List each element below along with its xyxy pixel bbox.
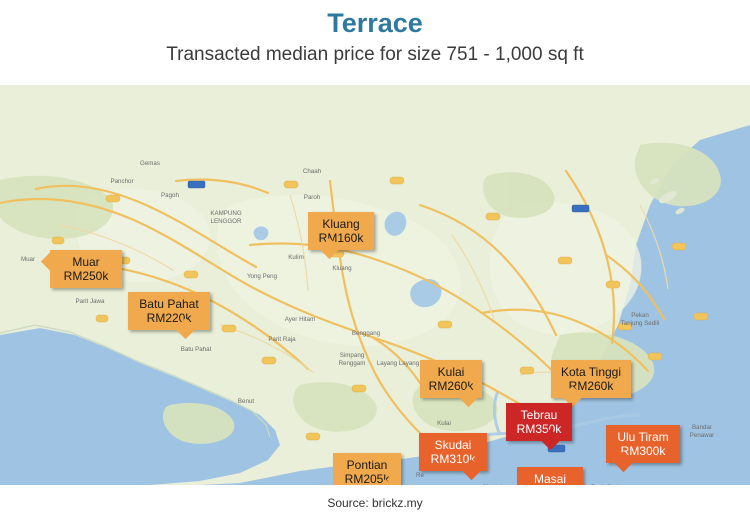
svg-text:Pagoh: Pagoh [161, 192, 179, 199]
svg-text:Paroh: Paroh [304, 194, 321, 201]
marker-name: Muar [57, 255, 115, 269]
marker-name: Masai [524, 472, 576, 485]
marker-name: Tebrau [513, 408, 565, 422]
map-marker-kluang[interactable]: Kluang RM160k [308, 212, 374, 250]
svg-text:Gemas: Gemas [140, 160, 160, 167]
svg-text:Parit Jawa: Parit Jawa [76, 298, 105, 305]
marker-price: RM250k [57, 269, 115, 283]
page-subtitle: Transacted median price for size 751 - 1… [0, 40, 750, 70]
marker-price: RM350k [513, 422, 565, 436]
svg-text:Kulim: Kulim [288, 254, 303, 261]
marker-name: Kota Tinggi [558, 365, 624, 379]
map-marker-tebrau[interactable]: Tebrau RM350k [506, 403, 572, 441]
svg-text:Panchor: Panchor [110, 178, 133, 185]
map-marker-pontian[interactable]: Pontian RM205k [333, 453, 401, 485]
map-marker-batu-pahat[interactable]: Batu Pahat RM220k [128, 292, 210, 330]
svg-text:LENGGOR: LENGGOR [211, 218, 242, 225]
map-canvas[interactable]: Muar Panchor Gemas Pagoh Parit Jawa Batu… [0, 85, 750, 485]
page-title: Terrace [0, 6, 750, 40]
source-note: Source: brickz.my [0, 485, 750, 510]
svg-text:Benut: Benut [238, 398, 254, 405]
marker-name: Ulu Tiram [613, 430, 673, 444]
svg-text:Batu Pahat: Batu Pahat [181, 346, 212, 353]
chart-footer: Source: brickz.my [0, 485, 750, 527]
svg-text:Pekan: Pekan [631, 312, 649, 319]
svg-text:Chaah: Chaah [303, 168, 322, 175]
marker-name: Kulai [427, 365, 475, 379]
svg-text:Kluang: Kluang [332, 265, 352, 272]
map-marker-kota-tinggi[interactable]: Kota Tinggi RM260k [551, 360, 631, 398]
svg-text:Kulai: Kulai [437, 420, 451, 427]
map-marker-ulu-tiram[interactable]: Ulu Tiram RM300k [606, 425, 680, 463]
map-marker-muar[interactable]: Muar RM250k [50, 250, 122, 288]
svg-text:Re: Re [416, 472, 424, 479]
map-marker-skudai[interactable]: Skudai RM310k [419, 433, 487, 471]
svg-text:Yong Peng: Yong Peng [247, 273, 278, 280]
svg-text:Tanjung Sedili: Tanjung Sedili [621, 320, 660, 327]
svg-text:Parit Raja: Parit Raja [268, 336, 296, 343]
map-marker-masai[interactable]: Masai RM300k [517, 467, 583, 485]
marker-name: Skudai [426, 438, 480, 452]
svg-text:Ayer Hitam: Ayer Hitam [285, 316, 316, 323]
svg-text:Layang Layang: Layang Layang [377, 360, 420, 367]
marker-name: Pontian [340, 458, 394, 472]
svg-text:Penawar: Penawar [690, 432, 714, 439]
marker-name: Batu Pahat [135, 297, 203, 311]
svg-text:Bandar: Bandar [692, 424, 712, 431]
svg-text:Muar: Muar [21, 256, 35, 263]
chart-header: Terrace Transacted median price for size… [0, 0, 750, 85]
svg-text:KAMPUNG: KAMPUNG [210, 210, 241, 217]
svg-text:Renggam: Renggam [339, 360, 366, 367]
svg-text:Simpang: Simpang [340, 352, 365, 359]
map-marker-kulai[interactable]: Kulai RM260k [420, 360, 482, 398]
marker-name: Kluang [315, 217, 367, 231]
svg-text:Benggang: Benggang [352, 330, 381, 337]
marker-price: RM220k [135, 311, 203, 325]
